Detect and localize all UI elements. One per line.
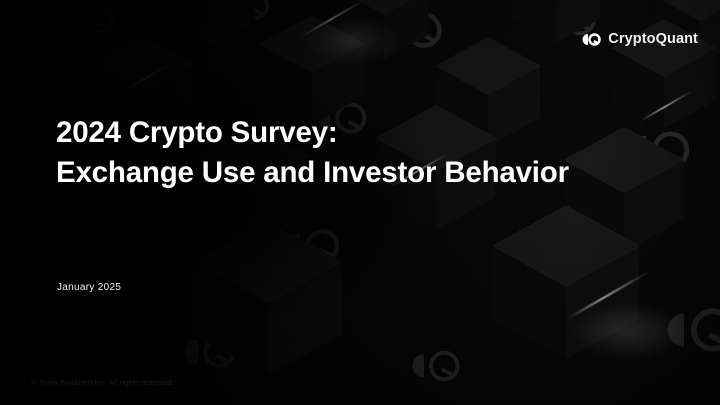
copyright-notice: © Team Blackbird Inc. All rights reserve…	[31, 378, 174, 387]
title-line-1: 2024 Crypto Survey:	[56, 113, 569, 153]
cryptoquant-logo: CryptoQuant	[582, 31, 698, 47]
title-line-2: Exchange Use and Investor Behavior	[56, 153, 569, 193]
background-artwork	[0, 0, 720, 405]
logo-wordmark: CryptoQuant	[608, 31, 698, 47]
isometric-cube-pattern	[0, 0, 720, 405]
cryptoquant-q-mark-icon	[582, 33, 601, 46]
title-slide: CryptoQuant 2024 Crypto Survey: Exchange…	[0, 0, 720, 405]
page-title: 2024 Crypto Survey: Exchange Use and Inv…	[56, 113, 569, 193]
publication-date: January 2025	[57, 282, 121, 293]
